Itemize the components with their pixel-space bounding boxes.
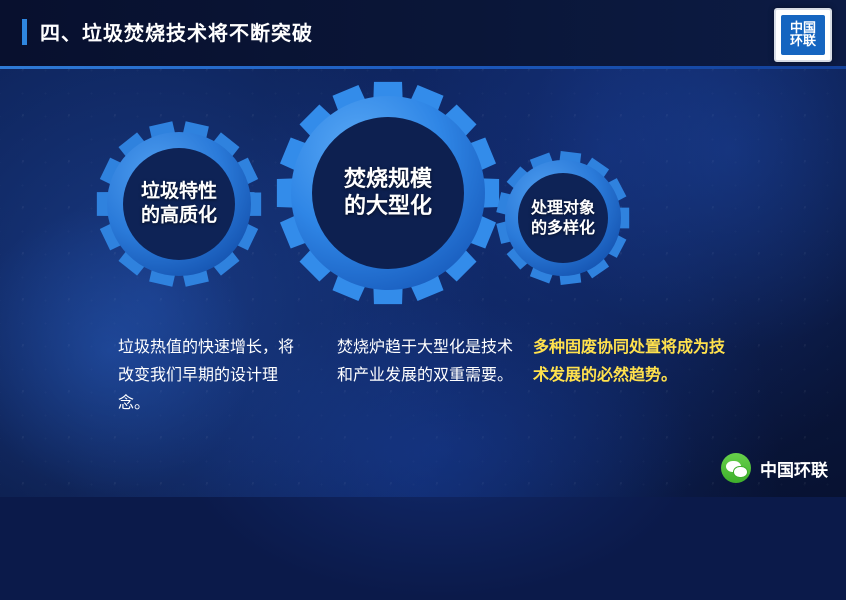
gear-center-label-line2: 的大型化 (344, 193, 432, 221)
page-title: 四、垃圾焚烧技术将不断突破 (40, 17, 313, 46)
gear-center-label-line1: 焚烧规模 (344, 166, 432, 194)
gear-graphic-center: 焚烧规模 的大型化 (275, 80, 501, 306)
caption-center: 焚烧炉趋于大型化是技术和产业发展的双重需要。 (337, 333, 517, 389)
wechat-icon (721, 453, 751, 483)
gear-graphic-right: 处理对象 的多样化 (495, 150, 631, 286)
header-underline (0, 66, 846, 69)
gear-center-label: 焚烧规模 的大型化 (275, 80, 501, 306)
gear-right-label-line2: 的多样化 (531, 218, 595, 238)
caption-right: 多种固废协同处置将成为技术发展的必然趋势。 (533, 333, 728, 389)
caption-left: 垃圾热值的快速增长，将改变我们早期的设计理念。 (118, 333, 308, 417)
brand-logo: 中国 环联 (774, 8, 832, 62)
footer-wechat-label: 中国环联 (760, 456, 828, 481)
gear-left-label-line2: 的高质化 (141, 204, 217, 228)
brand-logo-line2: 环联 (790, 35, 816, 48)
slide-root: 四、垃圾焚烧技术将不断突破 中国 环联 垃圾特性 的高质化 (0, 0, 846, 497)
brand-logo-line1: 中国 (790, 22, 816, 35)
header-accent-bar (22, 19, 27, 45)
gear-right-label: 处理对象 的多样化 (495, 150, 631, 286)
gear-graphic-left: 垃圾特性 的高质化 (95, 120, 263, 288)
gear-left-label-line1: 垃圾特性 (141, 180, 217, 204)
footer-wechat: 中国环联 (721, 453, 828, 483)
gear-right-label-line1: 处理对象 (531, 198, 595, 218)
gear-left-label: 垃圾特性 的高质化 (95, 120, 263, 288)
brand-logo-inner: 中国 环联 (781, 15, 825, 55)
